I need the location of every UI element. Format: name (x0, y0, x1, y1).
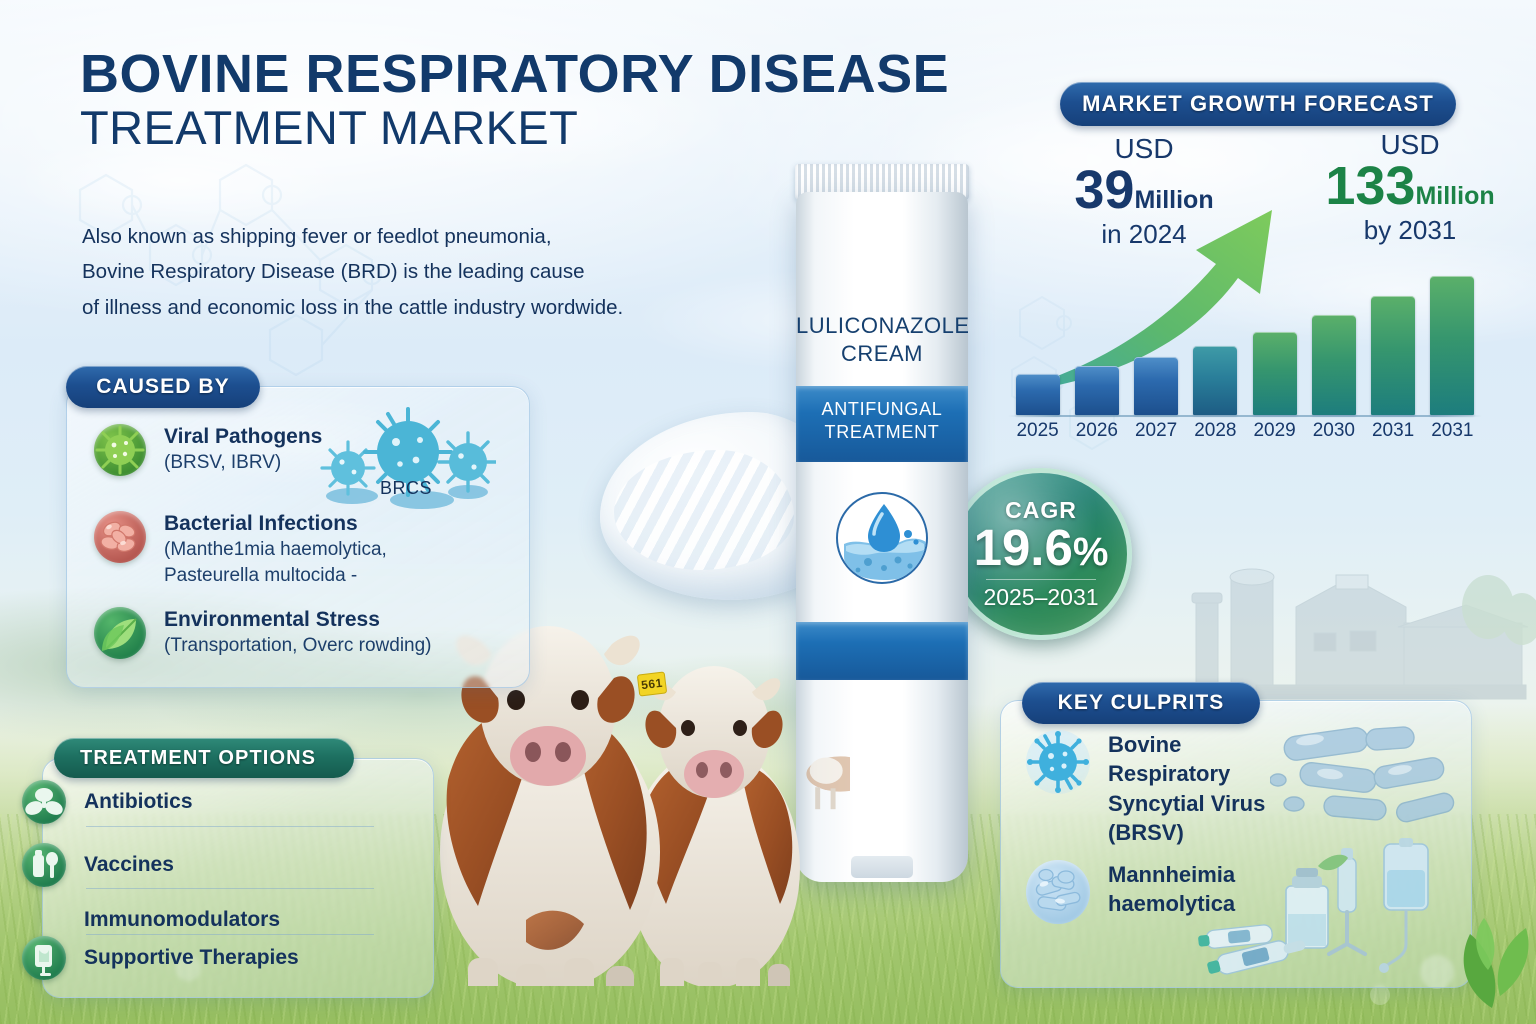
chart-x-axis-labels: 20252026202720282029203020312031 (1008, 420, 1482, 442)
iv-bag-icon (22, 936, 66, 980)
chart-x-label: 2027 (1127, 420, 1186, 442)
chart-bar (1371, 296, 1415, 415)
chart-bar-slot (1423, 263, 1482, 415)
chart-bar (1016, 374, 1060, 415)
bacteria-cluster-decoration-icon (1270, 722, 1470, 842)
virus-icon (94, 424, 146, 476)
treatment-divider (86, 934, 374, 935)
chart-x-label: 2030 (1304, 420, 1363, 442)
cause-title: Viral Pathogens (164, 424, 322, 450)
treatment-item-supportive: Supportive Therapies (22, 936, 374, 980)
product-name-line-2: CREAM (796, 340, 968, 368)
chart-bar-slot (1186, 263, 1245, 415)
chart-x-label: 2028 (1186, 420, 1245, 442)
culprit-line-2: Respiratory (1108, 759, 1265, 788)
cow-ear-tag: 561 (637, 671, 667, 696)
culprit-line-3: Syncytial Virus (1108, 789, 1265, 818)
treatment-divider (86, 826, 374, 827)
infographic-canvas: BOVINE RESPIRATORY DISEASE TREATMENT MAR… (0, 0, 1536, 1024)
treatment-label: Vaccines (84, 853, 174, 877)
virus-decoration-label: BRCS (316, 478, 496, 499)
page-title-line-2: TREATMENT MARKET (80, 102, 1000, 155)
virus-icon (1026, 730, 1090, 794)
culprit-line-1: Bovine (1108, 730, 1265, 759)
forecast-end-currency: USD (1290, 130, 1530, 159)
chart-bar-slot (1127, 263, 1186, 415)
cause-title: Environmental Stress (164, 607, 432, 633)
product-name-line-1: LULICONAZOLE (796, 312, 968, 340)
bacteria-icon (1026, 860, 1090, 924)
chart-bar (1193, 346, 1237, 415)
market-forecast-bar-chart: 20252026202720282029203020312031 (1008, 262, 1482, 442)
cause-subtitle-2: Pasteurella multocida - (164, 563, 387, 589)
water-droplet-icon (836, 492, 928, 584)
chart-baseline (1008, 415, 1482, 417)
chart-bar (1075, 366, 1119, 415)
forecast-end-unit: Million (1415, 182, 1494, 210)
treatment-item-vaccines: Vaccines (22, 843, 374, 887)
treatment-item-antibiotics: Antibiotics (22, 780, 374, 824)
cause-subtitle: (Transportation, Overc rowding) (164, 633, 432, 659)
product-name: LULICONAZOLE CREAM (796, 312, 968, 368)
medical-supplies-icon (1198, 838, 1448, 988)
chart-bars (1008, 263, 1482, 415)
treatment-options-badge: TREATMENT OPTIONS (54, 738, 354, 778)
forecast-start-currency: USD (1034, 134, 1254, 163)
chart-bar (1253, 332, 1297, 415)
chart-x-label: 2026 (1067, 420, 1126, 442)
market-growth-forecast-badge: MARKET GROWTH FORECAST (1060, 82, 1456, 126)
chart-x-label: 2031 (1423, 420, 1482, 442)
treatment-divider (86, 888, 374, 889)
chart-bar (1312, 315, 1356, 415)
leaf-sprig-icon (1452, 900, 1536, 1010)
caused-by-badge: CAUSED BY (66, 366, 260, 408)
page-title-line-1: BOVINE RESPIRATORY DISEASE (80, 46, 1000, 102)
key-culprits-badge: KEY CULPRITS (1022, 682, 1260, 724)
chart-bar-slot (1067, 263, 1126, 415)
cause-item-environmental: Environmental Stress (Transportation, Ov… (94, 607, 474, 659)
cause-title: Bacterial Infections (164, 511, 387, 537)
cause-subtitle: (BRSV, IBRV) (164, 450, 322, 476)
product-tagline-line-2: TREATMENT (796, 421, 968, 444)
treatment-label: Supportive Therapies (84, 946, 299, 970)
cagr-percent-symbol: % (1073, 530, 1109, 574)
leaf-icon (94, 607, 146, 659)
cause-subtitle: (Manthe1mia haemolytica, (164, 537, 387, 563)
product-tagline-line-1: ANTIFUNGAL (796, 398, 968, 421)
chart-bar-slot (1364, 263, 1423, 415)
vial-icon (22, 843, 66, 887)
chart-bar (1134, 357, 1178, 415)
culprit-label: Bovine Respiratory Syncytial Virus (BRSV… (1108, 730, 1265, 848)
cause-item-bacterial: Bacterial Infections (Manthe1mia haemoly… (94, 511, 454, 590)
page-title: BOVINE RESPIRATORY DISEASE TREATMENT MAR… (80, 46, 1000, 155)
chart-bar-slot (1245, 263, 1304, 415)
product-tagline: ANTIFUNGAL TREATMENT (796, 398, 968, 445)
tube-seam (851, 856, 913, 878)
chart-x-label: 2029 (1245, 420, 1304, 442)
bacteria-icon (94, 511, 146, 563)
chart-x-label: 2031 (1364, 420, 1423, 442)
chart-bar (1430, 276, 1474, 415)
pill-icon (22, 780, 66, 824)
treatment-label: Immunomodulators (84, 908, 280, 932)
chart-bar-slot (1304, 263, 1363, 415)
cause-item-viral: Viral Pathogens (BRSV, IBRV) (94, 424, 414, 476)
treatment-label: Antibiotics (84, 790, 193, 814)
